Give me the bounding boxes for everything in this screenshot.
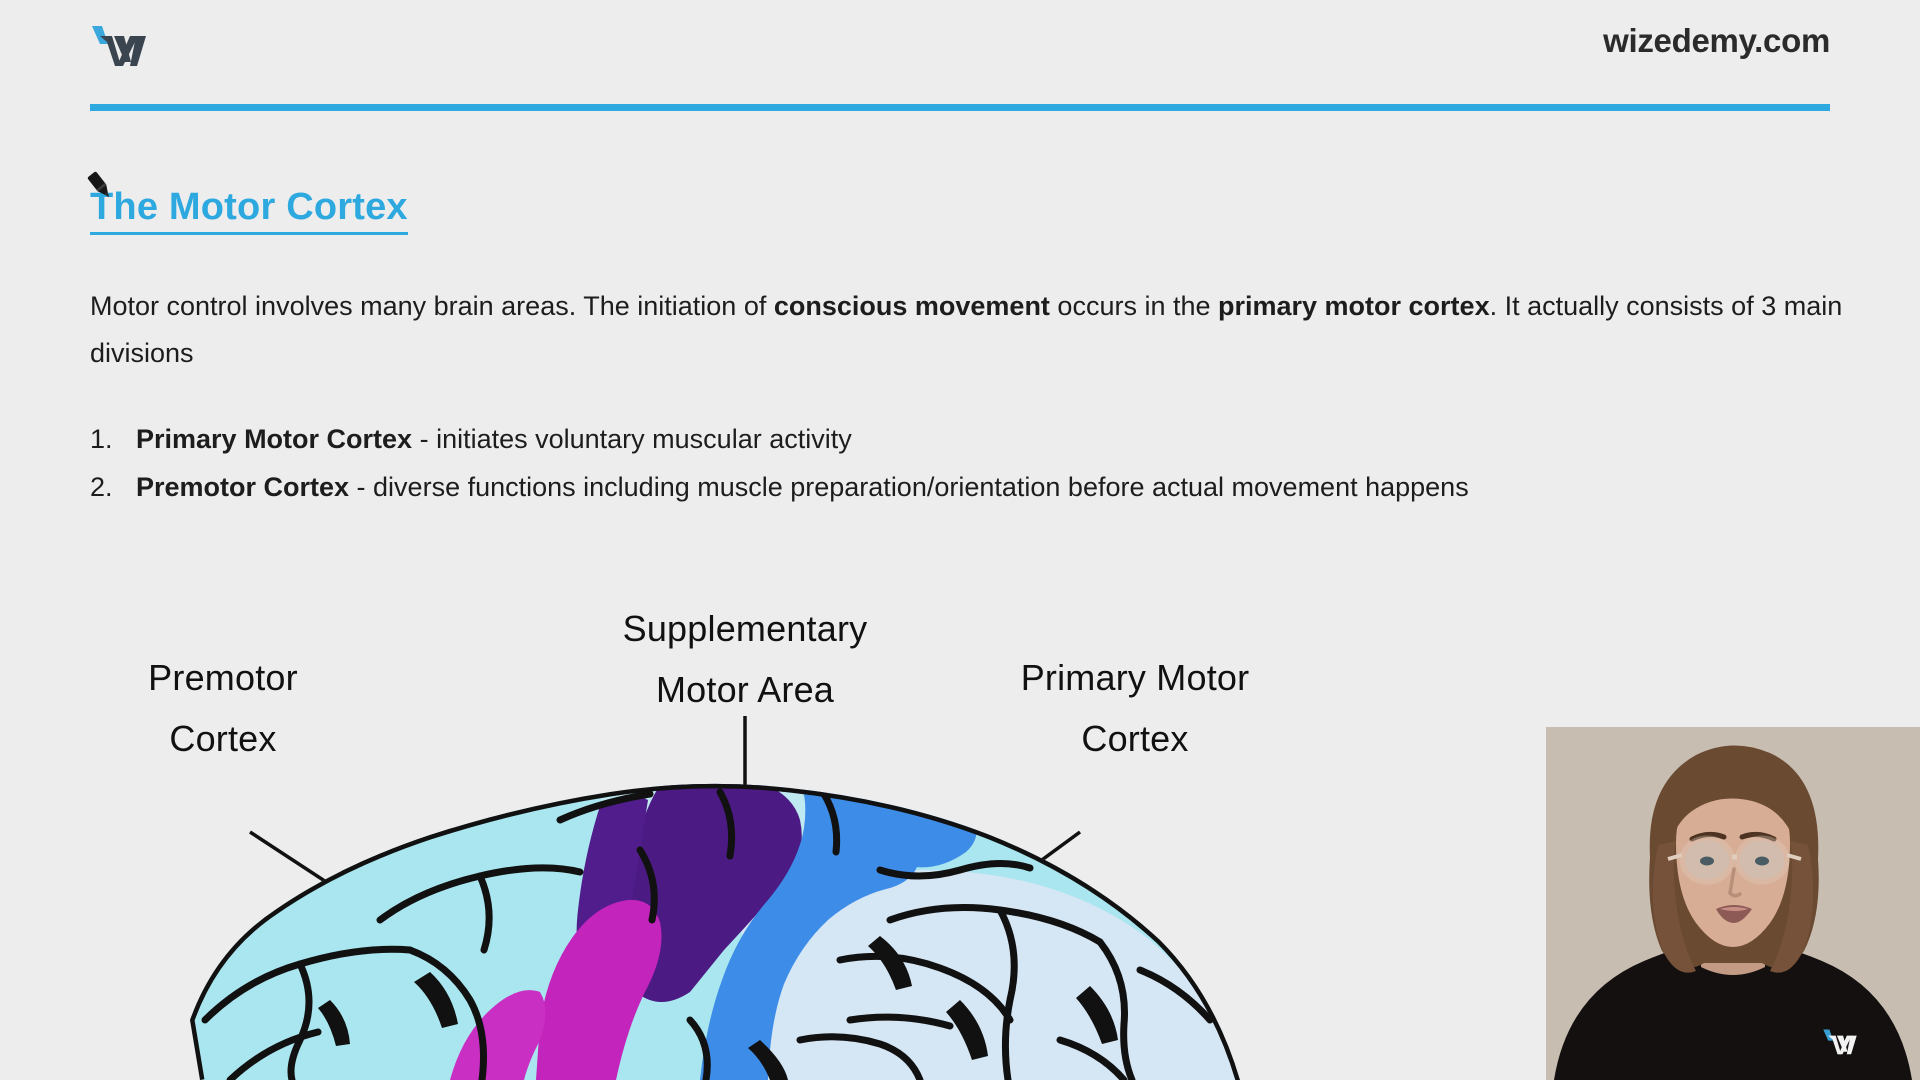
intro-paragraph: Motor control involves many brain areas.… bbox=[90, 283, 1850, 377]
header-divider bbox=[90, 104, 1830, 111]
list-item: 1. Primary Motor Cortex - initiates volu… bbox=[90, 415, 1880, 463]
wizedemy-w-logo bbox=[90, 22, 162, 78]
instructor-video-frame bbox=[1546, 727, 1920, 1080]
list-item-term: Premotor Cortex bbox=[136, 472, 349, 502]
brain-drawing bbox=[0, 620, 1560, 1080]
list-item-text: Primary Motor Cortex - initiates volunta… bbox=[136, 415, 852, 463]
list-item-text: Premotor Cortex - diverse functions incl… bbox=[136, 463, 1469, 511]
paragraph-bold-2: primary motor cortex bbox=[1218, 291, 1490, 321]
slide-canvas: wizedemy.com The Motor Cortex Motor cont… bbox=[0, 0, 1920, 1080]
brain-motor-cortex-illustration: Premotor Cortex Supplementary Motor Area… bbox=[0, 620, 1560, 1080]
divisions-list: 1. Primary Motor Cortex - initiates volu… bbox=[90, 415, 1880, 511]
slide-header: wizedemy.com bbox=[0, 0, 1920, 118]
list-item-description: - diverse functions including muscle pre… bbox=[349, 472, 1469, 502]
instructor-video-overlay[interactable] bbox=[1546, 727, 1920, 1080]
page-title-wrap: The Motor Cortex bbox=[90, 186, 408, 235]
paragraph-bold-1: conscious movement bbox=[774, 291, 1050, 321]
list-item-description: - initiates voluntary muscular activity bbox=[412, 424, 852, 454]
list-item: 2. Premotor Cortex - diverse functions i… bbox=[90, 463, 1880, 511]
page-title: The Motor Cortex bbox=[90, 186, 408, 235]
paragraph-part-1: Motor control involves many brain areas.… bbox=[90, 291, 774, 321]
list-item-term: Primary Motor Cortex bbox=[136, 424, 412, 454]
list-item-number: 2. bbox=[90, 463, 136, 511]
brand-name: wizedemy.com bbox=[1603, 22, 1830, 60]
paragraph-part-2: occurs in the bbox=[1050, 291, 1218, 321]
list-item-number: 1. bbox=[90, 415, 136, 463]
